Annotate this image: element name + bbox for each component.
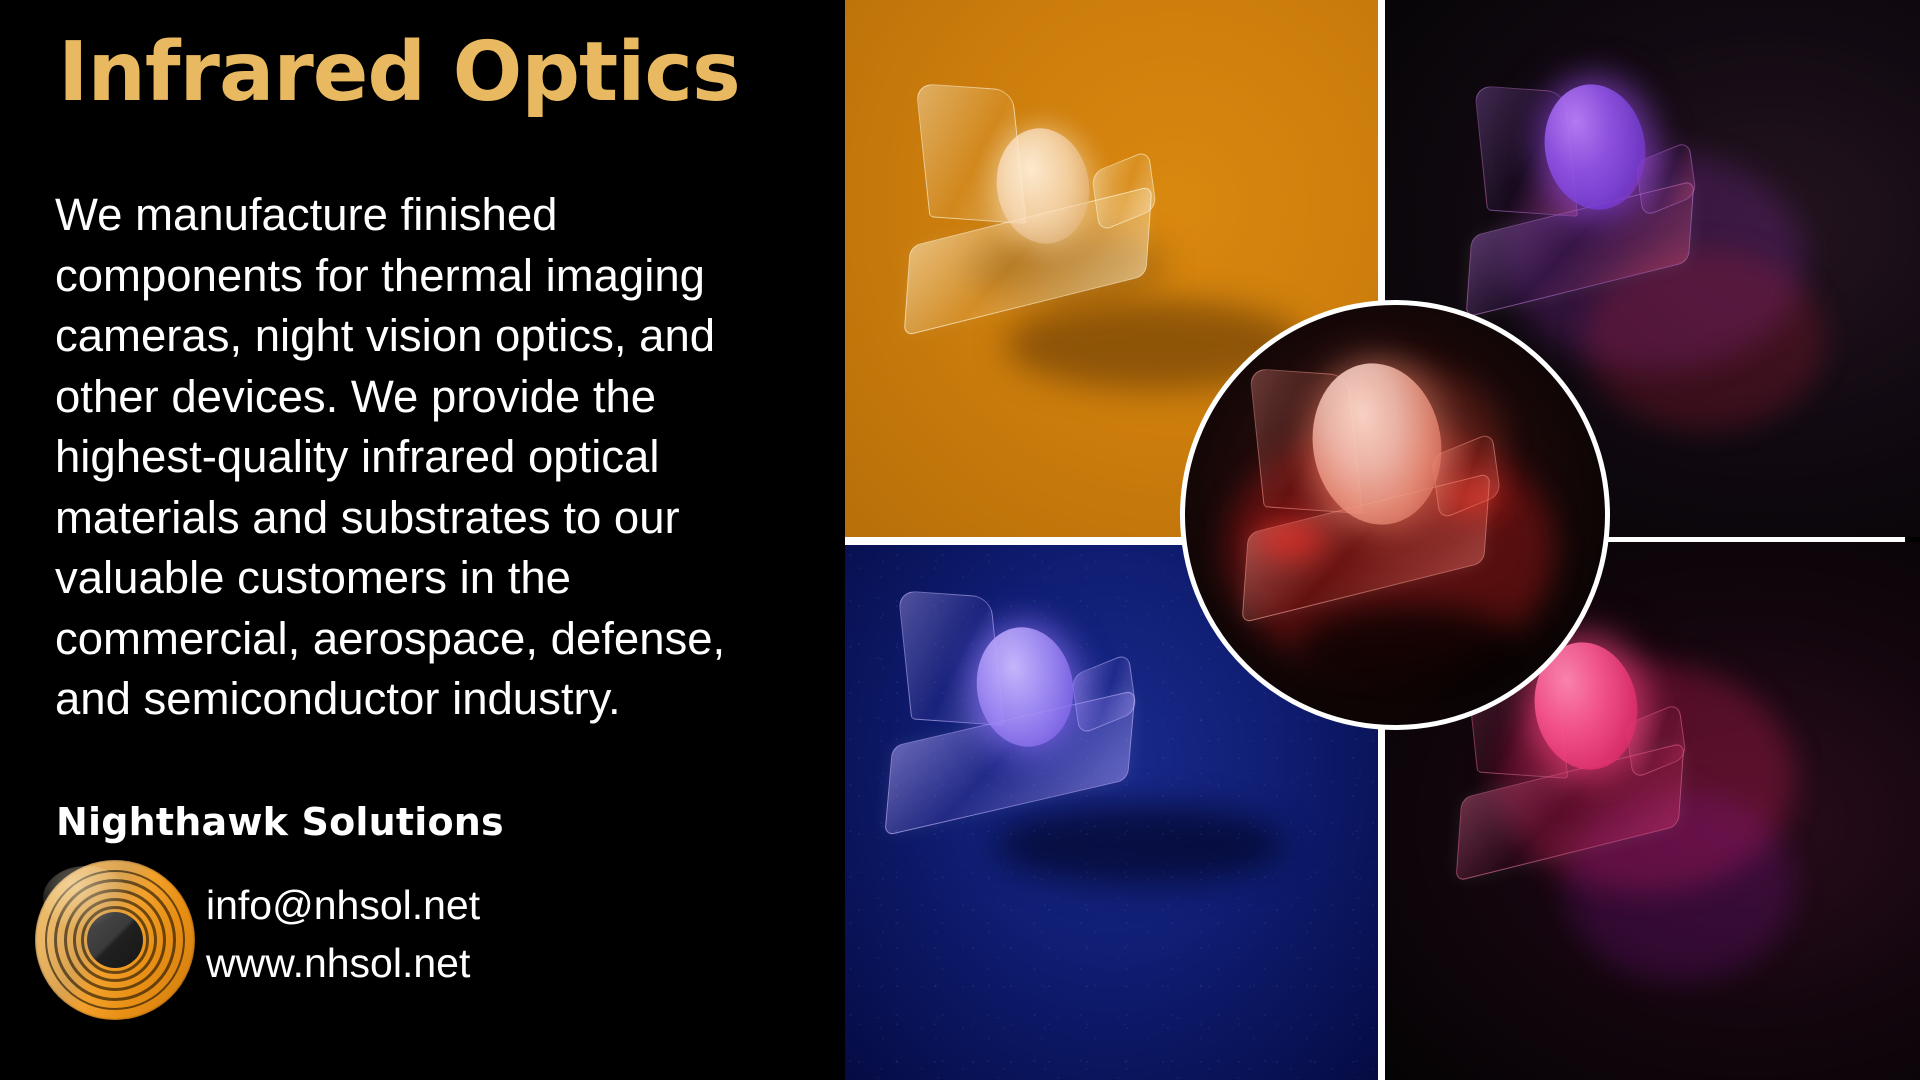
concentric-rings-lens-icon	[35, 860, 195, 1020]
infrared-lens	[968, 620, 1082, 754]
content-column: Infrared Optics We manufacture finished …	[0, 0, 845, 1080]
contact-website[interactable]: www.nhsol.net	[206, 934, 480, 992]
body-paragraph: We manufacture finished components for t…	[55, 185, 795, 730]
panel-divider-right-rule	[1596, 537, 1905, 542]
lens-mount-base	[884, 690, 1135, 836]
contact-email[interactable]: info@nhsol.net	[206, 876, 480, 934]
cast-shadow	[1295, 605, 1525, 695]
lens-mount-arm	[1071, 653, 1137, 735]
logo-highlight	[43, 866, 129, 930]
lens-glow	[971, 621, 1081, 755]
cast-shadow	[995, 805, 1285, 885]
page-title: Infrared Optics	[58, 32, 740, 114]
lens-mount-back	[898, 590, 1005, 726]
company-name: Nighthawk Solutions	[56, 800, 504, 844]
gallery-panel-center-circle	[1180, 300, 1610, 730]
contact-block: info@nhsol.net www.nhsol.net	[206, 876, 480, 992]
